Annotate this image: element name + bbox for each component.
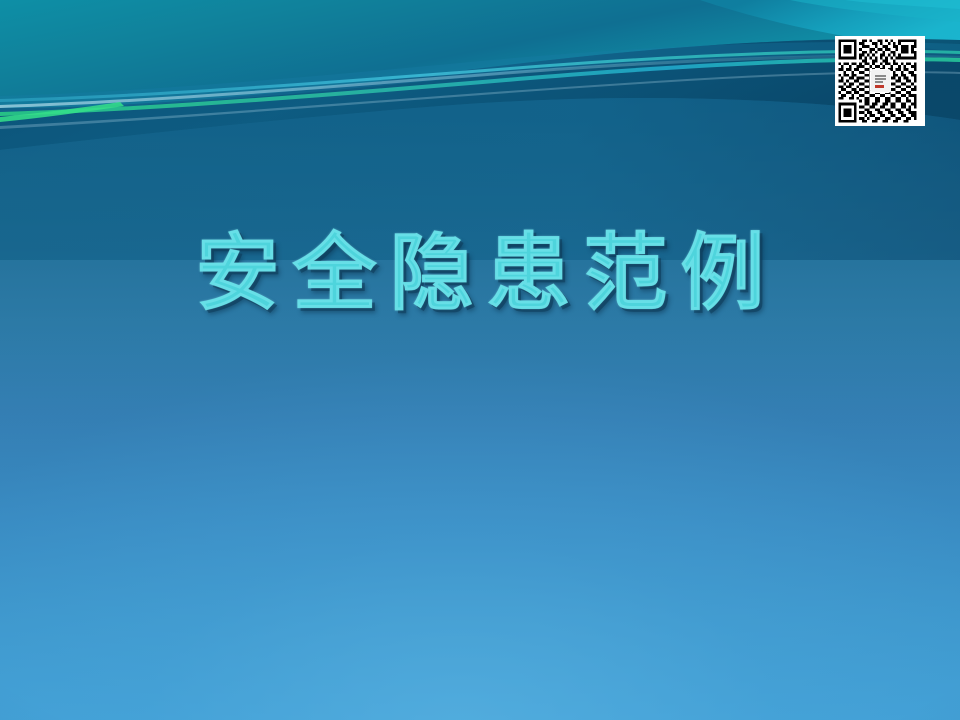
qr-code-center-logo [871,70,890,92]
presentation-slide: 安全隐患范例 [0,0,960,720]
qr-code[interactable] [835,36,925,126]
top-wave-decoration [0,0,960,260]
